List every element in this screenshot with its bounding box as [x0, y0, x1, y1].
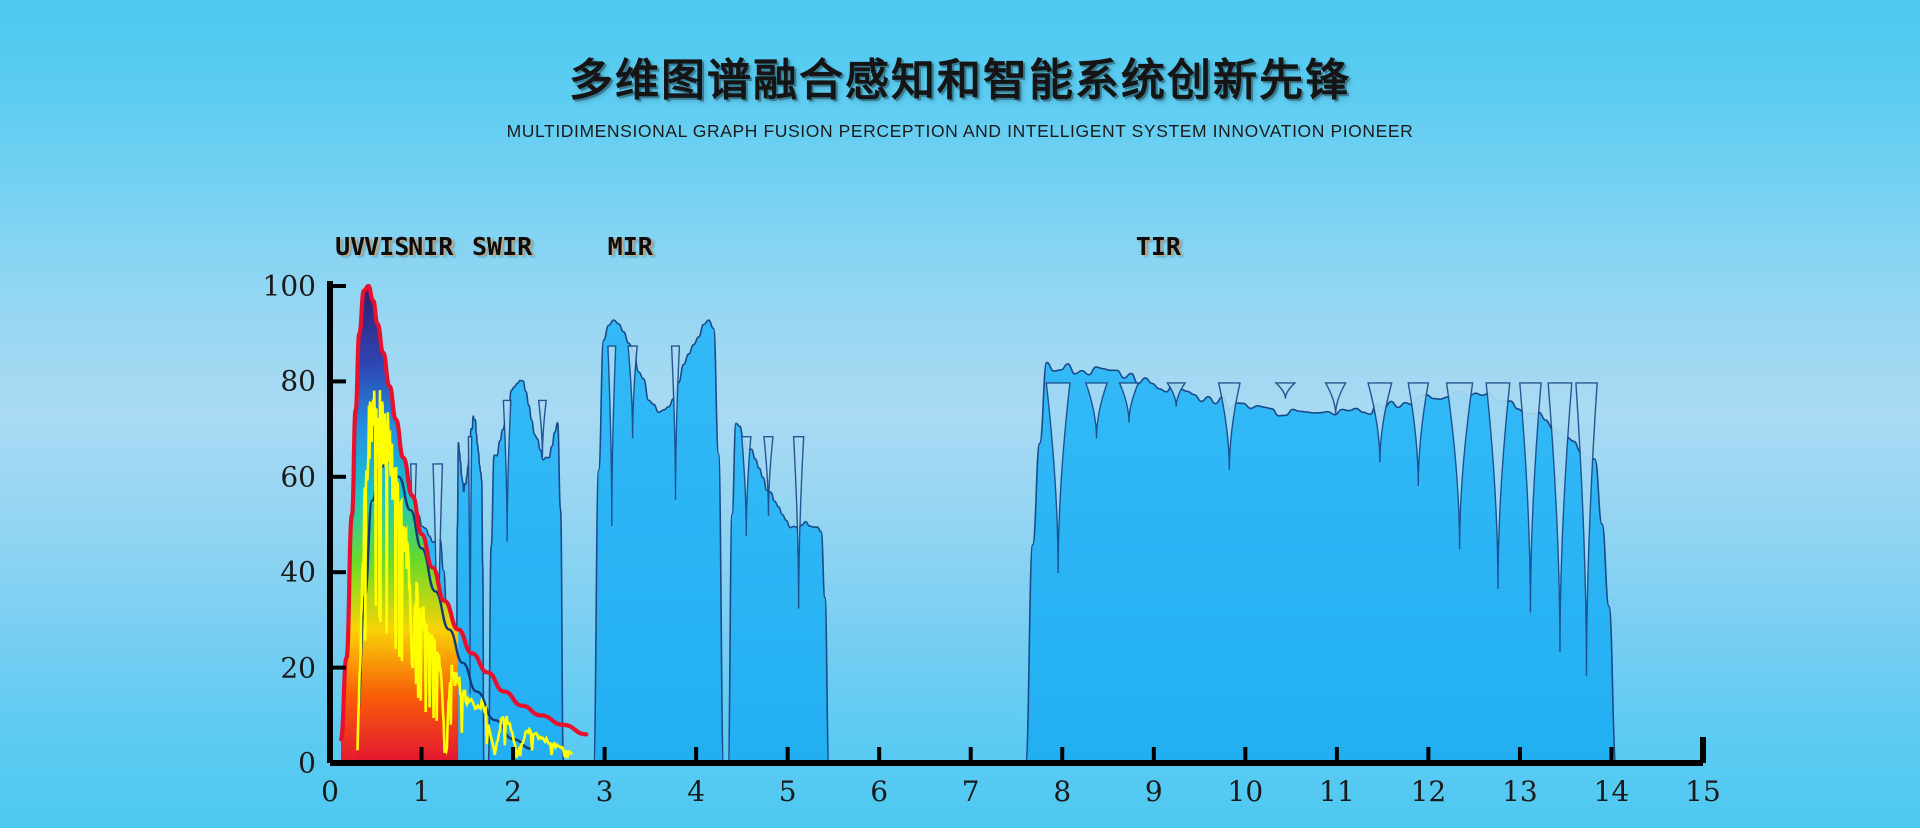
band-label-tir: TIR	[1136, 232, 1181, 261]
y-tick-label: 0	[298, 747, 316, 780]
x-tick-label: 15	[1685, 775, 1721, 808]
y-tick-label: 100	[263, 270, 316, 303]
x-tick-label: 0	[321, 775, 339, 808]
x-tick-label: 9	[1145, 775, 1163, 808]
x-tick-label: 13	[1502, 775, 1538, 808]
band-label-uv: UV	[335, 232, 365, 261]
visible-spectrum-gradient	[341, 286, 1703, 763]
x-tick-label: 10	[1228, 775, 1264, 808]
y-tick-label: 40	[280, 556, 316, 589]
band-label-mir: MIR	[608, 232, 653, 261]
x-tick-label: 6	[870, 775, 888, 808]
x-tick-label: 7	[962, 775, 980, 808]
x-tick-label: 8	[1053, 775, 1071, 808]
x-tick-label: 2	[504, 775, 522, 808]
x-tick-label: 5	[779, 775, 797, 808]
x-tick-label: 1	[413, 775, 431, 808]
x-tick-label: 11	[1319, 775, 1355, 808]
band-label-swir: SWIR	[472, 232, 532, 261]
spectrum-chart-svg	[0, 0, 1920, 828]
x-tick-label: 4	[687, 775, 705, 808]
x-tick-label: 12	[1411, 775, 1447, 808]
spectrum-chart: UVVISNIRSWIRMIRTIR 012345678910111213141…	[0, 0, 1920, 828]
y-tick-label: 20	[280, 651, 316, 684]
y-tick-label: 80	[280, 365, 316, 398]
band-label-nir: NIR	[408, 232, 453, 261]
x-tick-label: 14	[1594, 775, 1630, 808]
x-tick-label: 3	[596, 775, 614, 808]
infographic-root: 多维图谱融合感知和智能系统创新先锋 MULTIDIMENSIONAL GRAPH…	[0, 0, 1920, 828]
band-label-vis: VIS	[364, 232, 409, 261]
y-tick-label: 60	[280, 460, 316, 493]
